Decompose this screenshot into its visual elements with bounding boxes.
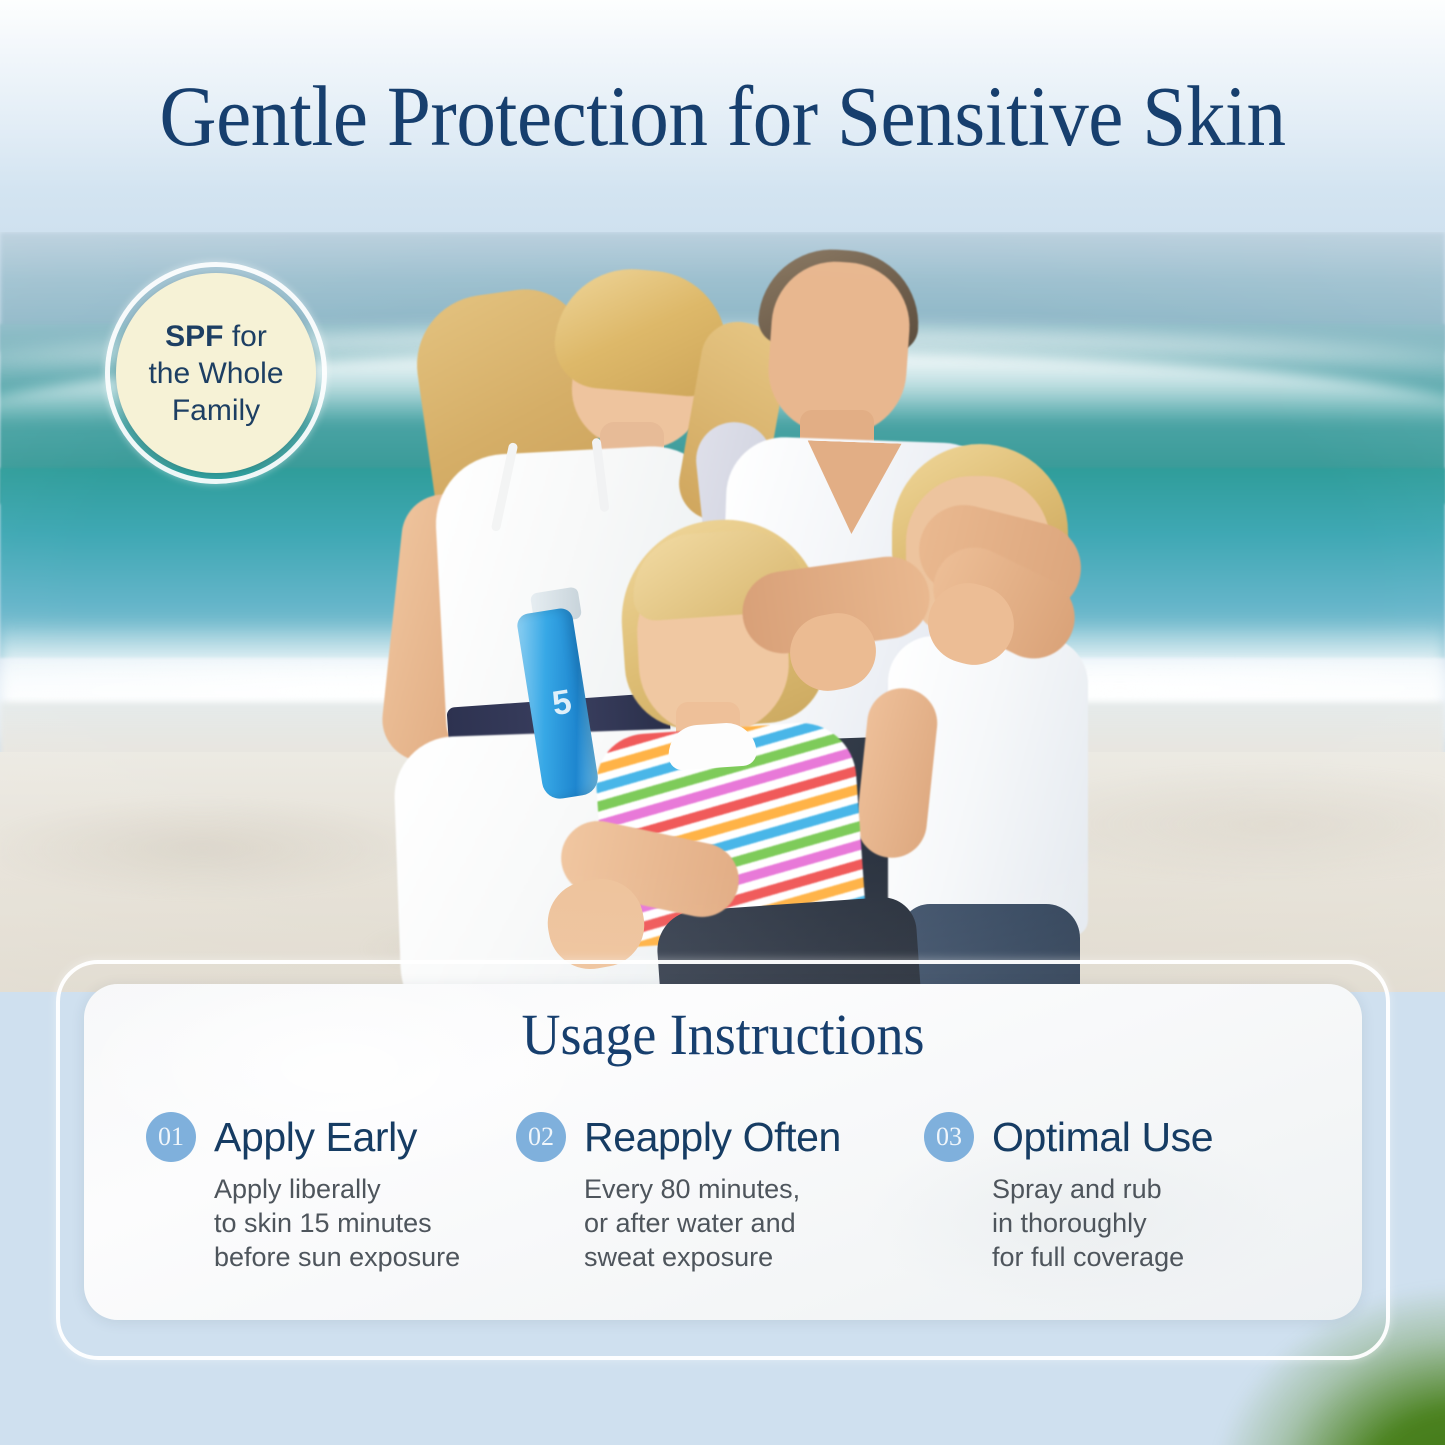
sunscreen-bottle-label: 5 xyxy=(533,680,588,726)
usage-step-2-title: Reapply Often xyxy=(584,1114,841,1160)
usage-step-1-title: Apply Early xyxy=(214,1114,417,1160)
spf-badge-line1-rest: for xyxy=(223,320,266,353)
usage-instructions-heading: Usage Instructions xyxy=(129,1002,1318,1068)
usage-steps-list: 01 Apply Early Apply liberally to skin 1… xyxy=(84,1112,1362,1274)
spf-badge-text: SPF for the Whole Family xyxy=(148,318,283,429)
step-number-badge-1: 01 xyxy=(146,1112,196,1162)
usage-step-3-title: Optimal Use xyxy=(992,1114,1213,1160)
usage-step-2-header: 02 Reapply Often xyxy=(516,1112,924,1162)
step-number-badge-2: 02 xyxy=(516,1112,566,1162)
step-number-badge-3: 03 xyxy=(924,1112,974,1162)
infographic-canvas: Gentle Protection for Sensitive Skin xyxy=(0,0,1445,1445)
usage-step-3-header: 03 Optimal Use xyxy=(924,1112,1354,1162)
usage-step-1-header: 01 Apply Early xyxy=(146,1112,504,1162)
spf-badge-line2: the Whole xyxy=(148,357,283,390)
usage-instructions-panel: Usage Instructions 01 Apply Early Apply … xyxy=(84,984,1362,1320)
spf-badge-line3: Family xyxy=(172,394,260,427)
spf-family-badge: SPF for the Whole Family xyxy=(105,262,327,484)
usage-step-1: 01 Apply Early Apply liberally to skin 1… xyxy=(84,1112,504,1274)
usage-step-3-body: Spray and rub in thoroughly for full cov… xyxy=(992,1172,1354,1274)
page-title: Gentle Protection for Sensitive Skin xyxy=(58,68,1387,164)
usage-step-2: 02 Reapply Often Every 80 minutes, or af… xyxy=(504,1112,924,1274)
spf-badge-fill: SPF for the Whole Family xyxy=(116,273,316,473)
usage-step-1-body: Apply liberally to skin 15 minutes befor… xyxy=(214,1172,504,1274)
usage-step-2-body: Every 80 minutes, or after water and swe… xyxy=(584,1172,924,1274)
spf-badge-line1-bold: SPF xyxy=(165,320,223,353)
usage-step-3: 03 Optimal Use Spray and rub in thorough… xyxy=(924,1112,1354,1274)
